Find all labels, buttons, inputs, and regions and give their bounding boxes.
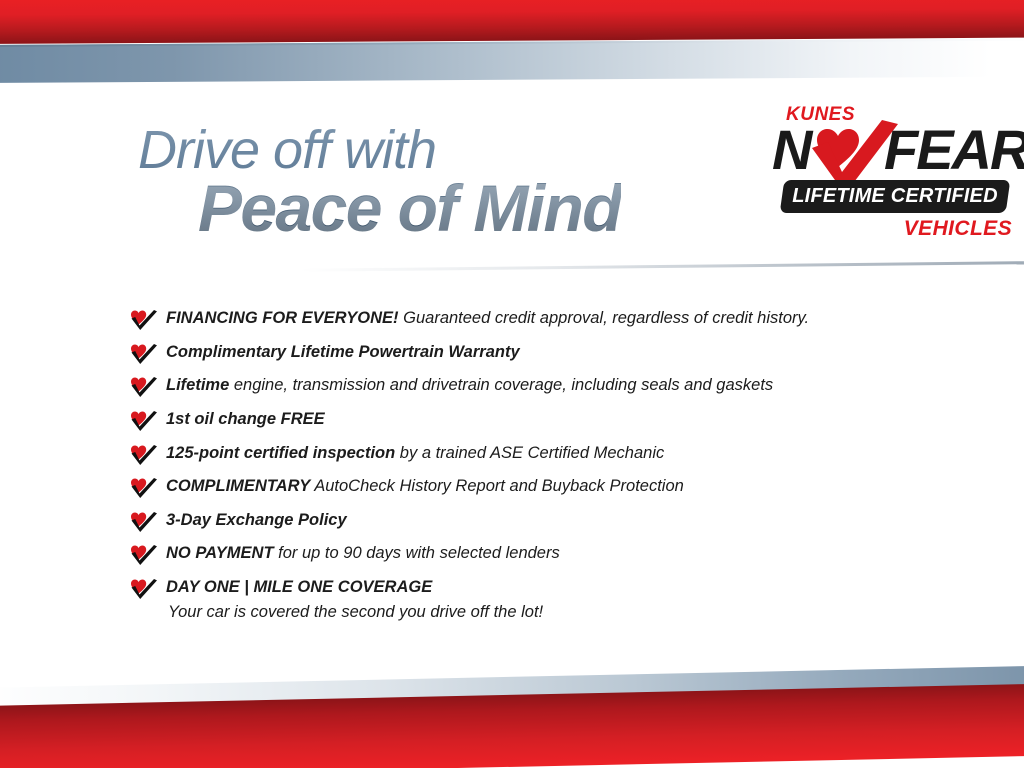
list-item-rest: engine, transmission and drivetrain cove…	[229, 376, 773, 394]
list-item-lead: 1st oil change FREE	[166, 410, 325, 428]
top-slate-band	[0, 39, 1024, 83]
list-item-lead: FINANCING FOR EVERYONE!	[166, 309, 399, 327]
list-item-lead: COMPLIMENTARY	[166, 477, 310, 495]
kunes-no-fear-logo: KUNES N FEAR LIFETIME CERTIFIED VEHICLES	[768, 104, 1016, 252]
list-item: 3-Day Exchange Policy	[130, 510, 930, 531]
list-item: DAY ONE | MILE ONE COVERAGE Your car is …	[130, 577, 930, 622]
top-red-band	[0, 0, 1024, 44]
heart-check-icon	[130, 578, 158, 600]
list-item-lead: DAY ONE | MILE ONE COVERAGE	[166, 578, 432, 596]
list-item-lead: NO PAYMENT	[166, 544, 274, 562]
list-item-lead: Lifetime	[166, 376, 229, 394]
promo-poster: Drive off with Peace of Mind KUNES N FEA…	[0, 0, 1024, 768]
list-item-rest: by a trained ASE Certified Mechanic	[395, 444, 664, 462]
logo-banner-text: LIFETIME CERTIFIED	[782, 180, 1008, 213]
list-item: FINANCING FOR EVERYONE! Guaranteed credi…	[130, 308, 930, 329]
heart-check-icon	[130, 511, 158, 533]
heart-check-icon	[130, 410, 158, 432]
header-divider	[300, 261, 1024, 272]
heart-check-icon	[130, 477, 158, 499]
heart-check-icon	[130, 444, 158, 466]
logo-banner: LIFETIME CERTIFIED	[780, 180, 1011, 213]
list-item-subtext: Your car is covered the second you drive…	[168, 602, 930, 623]
list-item-lead: Complimentary Lifetime Powertrain Warran…	[166, 343, 520, 361]
headline: Drive off with Peace of Mind	[138, 122, 621, 243]
list-item-lead: 125-point certified inspection	[166, 444, 395, 462]
benefits-list: FINANCING FOR EVERYONE! Guaranteed credi…	[130, 308, 930, 635]
list-item-rest: Guaranteed credit approval, regardless o…	[399, 309, 810, 327]
list-item-rest: AutoCheck History Report and Buyback Pro…	[310, 477, 684, 495]
list-item: NO PAYMENT for up to 90 days with select…	[130, 543, 930, 564]
heart-check-icon	[130, 376, 158, 398]
headline-line-2: Peace of Mind	[198, 174, 621, 243]
list-item: Lifetime engine, transmission and drivet…	[130, 375, 930, 396]
logo-letter-n: N	[772, 122, 810, 178]
list-item: 125-point certified inspection by a trai…	[130, 443, 930, 464]
logo-letters-fear: FEAR	[884, 122, 1024, 178]
logo-vehicles: VEHICLES	[904, 217, 1012, 241]
list-item: 1st oil change FREE	[130, 409, 930, 430]
list-item: Complimentary Lifetime Powertrain Warran…	[130, 342, 930, 363]
heart-check-icon	[130, 309, 158, 331]
list-item-lead: 3-Day Exchange Policy	[166, 511, 347, 529]
heart-check-icon	[130, 544, 158, 566]
list-item-rest: for up to 90 days with selected lenders	[274, 544, 560, 562]
heart-check-icon	[130, 343, 158, 365]
logo-wordmark: N FEAR	[768, 122, 1016, 184]
headline-line-1: Drive off with	[138, 122, 621, 178]
list-item: COMPLIMENTARY AutoCheck History Report a…	[130, 476, 930, 497]
